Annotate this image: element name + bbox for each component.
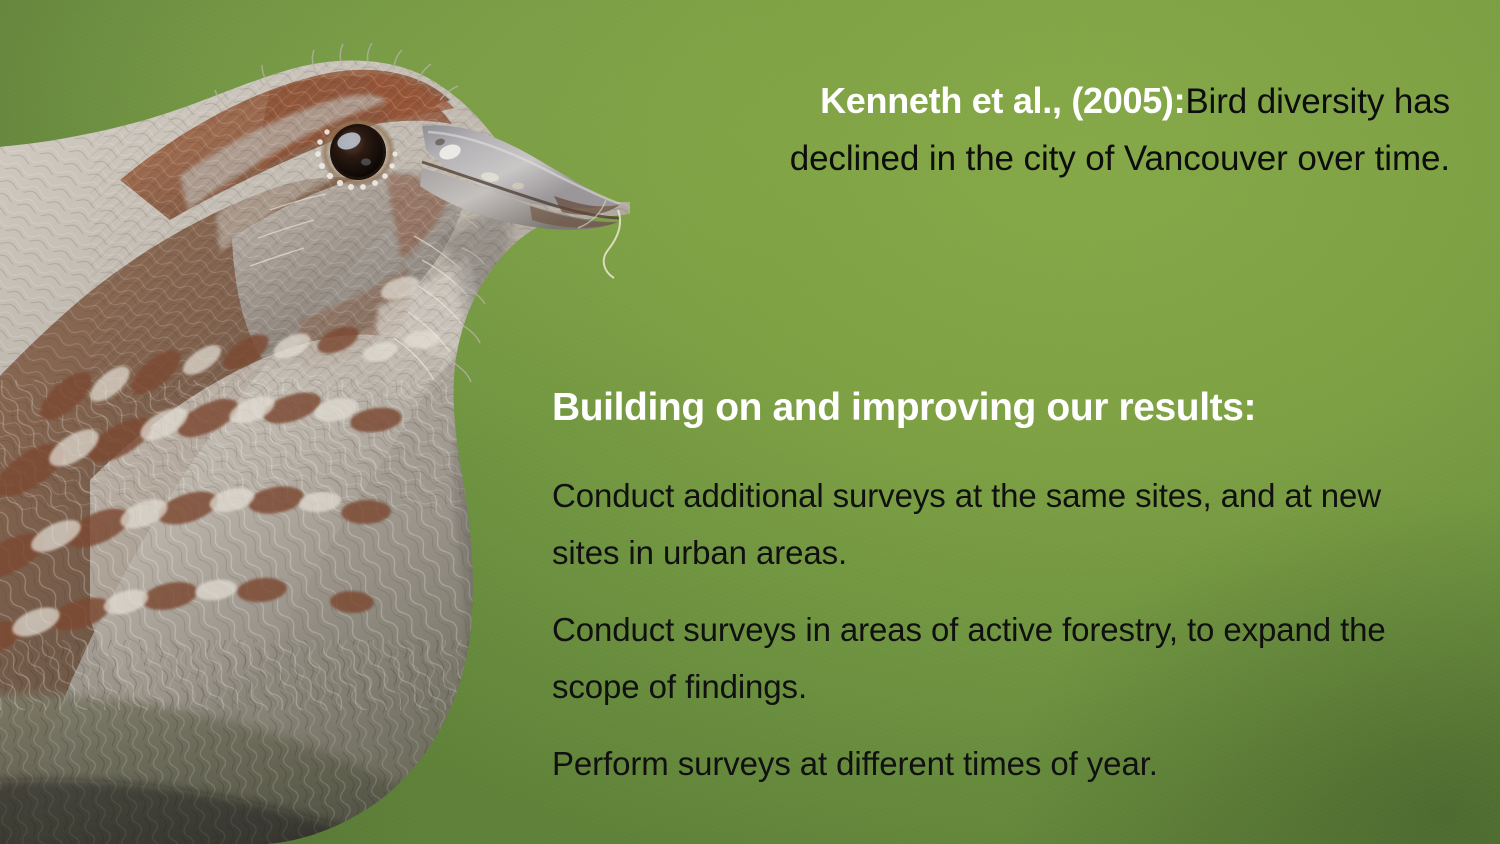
results-points-list: Conduct additional surveys at the same s… (552, 467, 1452, 792)
results-point: Conduct additional surveys at the same s… (552, 467, 1452, 581)
results-heading: Building on and improving our results: (552, 386, 1256, 430)
results-point: Conduct surveys in areas of active fores… (552, 601, 1452, 715)
citation-source: Kenneth et al., (2005): (820, 80, 1185, 121)
citation-block: Kenneth et al., (2005):Bird diversity ha… (690, 72, 1450, 187)
results-point: Perform surveys at different times of ye… (552, 735, 1452, 792)
slide-text-layer: Kenneth et al., (2005):Bird diversity ha… (0, 0, 1500, 844)
presentation-slide: Kenneth et al., (2005):Bird diversity ha… (0, 0, 1500, 844)
